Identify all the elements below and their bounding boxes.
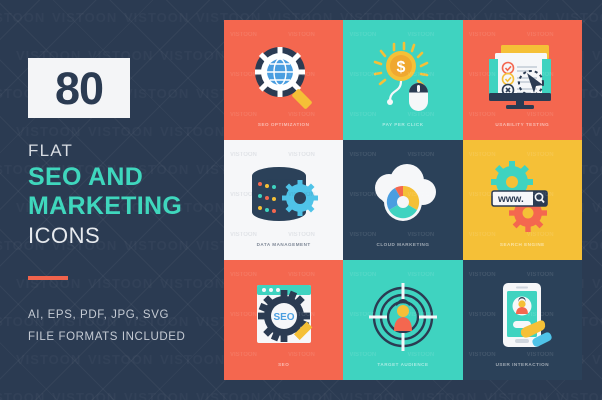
cell-label: CLOUD MARKETING <box>343 242 462 247</box>
cell-label: PAY PER CLICK <box>343 122 462 127</box>
cell-watermark-text: VISTOON <box>288 32 315 38</box>
headline-block: FLAT SEO AND MARKETING ICONS <box>28 140 182 251</box>
grid-cell-seo-optimization[interactable]: SEO OPTIMIZATION VISTOONVISTOONVISTOONVI… <box>224 20 343 140</box>
cell-watermark-text: VISTOON <box>527 32 554 38</box>
grid-cell-target-audience[interactable]: TARGET AUDIENCE VISTOONVISTOONVISTOONVIS… <box>343 260 462 380</box>
monitor-checklist-cursor-icon <box>463 41 582 113</box>
background-watermark-text: VISTOON <box>592 352 602 367</box>
cell-label: SEO OPTIMIZATION <box>224 122 343 127</box>
cell-watermark-text: VISTOON <box>527 152 554 158</box>
background-watermark-text: VISTOON <box>592 124 602 139</box>
background-watermark-text: VISTOON <box>412 390 477 400</box>
dollar-coin-mouse-icon: $ <box>343 41 462 113</box>
formats-included: FILE FORMATS INCLUDED <box>28 327 185 349</box>
browser-seo-gear-pencil-icon: SEO <box>224 281 343 353</box>
cell-watermark-text: VISTOON <box>469 32 496 38</box>
cell-watermark-text: VISTOON <box>469 272 496 278</box>
cell-watermark-text: VISTOON <box>349 272 376 278</box>
headline-seo-and: SEO AND <box>28 163 182 193</box>
cell-watermark-text: VISTOON <box>349 32 376 38</box>
grid-cell-cloud-marketing[interactable]: CLOUD MARKETING VISTOONVISTOONVISTOONVIS… <box>343 140 462 260</box>
cell-label: SEARCH ENGINE <box>463 242 582 247</box>
cell-watermark-text: VISTOON <box>407 272 434 278</box>
cloud-piechart-icon <box>343 161 462 233</box>
poster-canvas: VISTOONVISTOONVISTOONVISTOONVISTOONVISTO… <box>0 0 602 400</box>
background-watermark-text: VISTOON <box>484 390 549 400</box>
svg-text:www.: www. <box>497 194 524 205</box>
svg-text:SEO: SEO <box>273 312 294 323</box>
cell-watermark-text: VISTOON <box>230 32 257 38</box>
cell-label: USABILITY TESTING <box>463 122 582 127</box>
cell-watermark-text: VISTOON <box>288 272 315 278</box>
icon-count-value: 80 <box>55 66 103 111</box>
grid-cell-usability-testing[interactable]: USABILITY TESTING VISTOONVISTOONVISTOONV… <box>463 20 582 140</box>
cell-watermark-text: VISTOON <box>527 272 554 278</box>
icon-preview-grid: SEO OPTIMIZATION VISTOONVISTOONVISTOONVI… <box>224 20 582 380</box>
background-watermark-text: VISTOON <box>268 390 333 400</box>
cell-watermark-text: VISTOON <box>349 152 376 158</box>
cell-label: SEO <box>224 362 343 367</box>
svg-text:$: $ <box>397 59 406 76</box>
accent-divider <box>28 276 68 280</box>
formats-list: AI, EPS, PDF, JPG, SVG <box>28 305 185 327</box>
crosshair-person-icon <box>343 281 462 353</box>
headline-flat: FLAT <box>28 140 182 163</box>
grid-cell-search-engine[interactable]: www. SEARCH ENGINE VISTOONVISTOONVISTOON… <box>463 140 582 260</box>
cell-label: USER INTERACTION <box>463 362 582 367</box>
cell-watermark-text: VISTOON <box>288 152 315 158</box>
cell-watermark-text: VISTOON <box>469 152 496 158</box>
grid-cell-pay-per-click[interactable]: $ PAY PER CLICK VISTOONVISTOONVISTOONVIS… <box>343 20 462 140</box>
left-info-panel: 80 FLAT SEO AND MARKETING ICONS AI, EPS,… <box>0 0 215 400</box>
cell-label: DATA MANAGEMENT <box>224 242 343 247</box>
icon-count-badge: 80 <box>28 58 130 118</box>
background-watermark-text: VISTOON <box>556 390 602 400</box>
grid-cell-data-management[interactable]: DATA MANAGEMENT VISTOONVISTOONVISTOONVIS… <box>224 140 343 260</box>
cell-watermark-text: VISTOON <box>230 152 257 158</box>
background-watermark-text: VISTOON <box>592 276 602 291</box>
background-watermark-text: VISTOON <box>340 390 405 400</box>
grid-cell-user-interaction[interactable]: USER INTERACTION VISTOONVISTOONVISTOONVI… <box>463 260 582 380</box>
headline-icons: ICONS <box>28 222 182 251</box>
background-watermark-text: VISTOON <box>592 48 602 63</box>
cell-label: TARGET AUDIENCE <box>343 362 462 367</box>
cell-watermark-text: VISTOON <box>230 272 257 278</box>
cell-watermark-text: VISTOON <box>407 32 434 38</box>
cell-watermark-text: VISTOON <box>407 152 434 158</box>
www-searchbar-gears-icon: www. <box>463 161 582 233</box>
file-formats-block: AI, EPS, PDF, JPG, SVG FILE FORMATS INCL… <box>28 305 185 349</box>
smartphone-hand-tap-icon <box>463 281 582 353</box>
database-gear-icon <box>224 161 343 233</box>
grid-cell-seo[interactable]: SEO SEO VISTOONVISTOONVISTOONVISTOONVIST… <box>224 260 343 380</box>
background-watermark-text: VISTOON <box>592 200 602 215</box>
headline-marketing: MARKETING <box>28 192 182 222</box>
magnifier-globe-gear-icon <box>224 41 343 113</box>
